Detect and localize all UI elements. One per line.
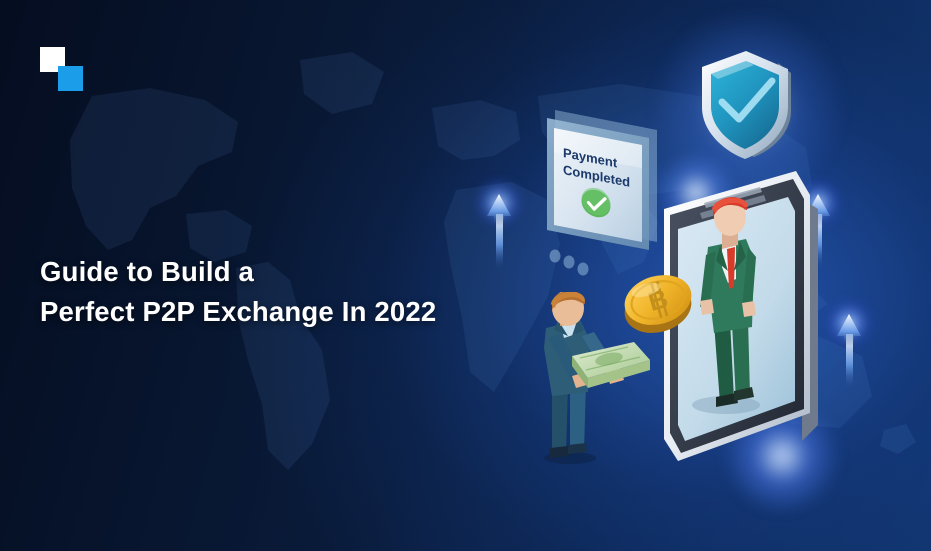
headline-line-1: Guide to Build a [40,252,520,292]
hero-banner: Guide to Build a Perfect P2P Exchange In… [0,0,931,551]
brand-logo[interactable] [40,47,84,91]
arrow-glow [823,298,875,348]
person-holding-cash [522,292,654,464]
arrow-glow [473,178,525,228]
growth-arrow-bottom-right [836,312,862,390]
page-title: Guide to Build a Perfect P2P Exchange In… [40,252,520,332]
loading-dots [546,248,606,280]
headline-line-2: Perfect P2P Exchange In 2022 [40,292,520,332]
logo-blue-square [58,66,83,91]
security-shield-icon [692,47,800,163]
